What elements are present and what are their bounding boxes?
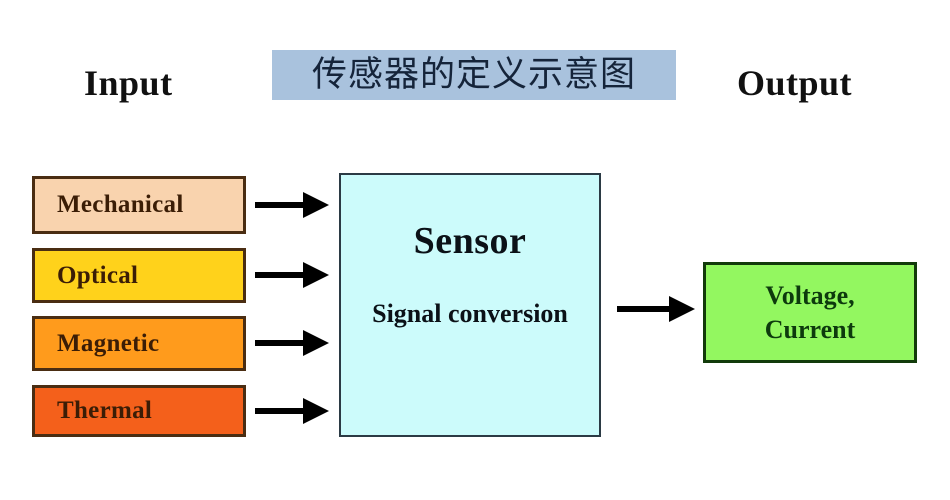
arrow-shaft bbox=[255, 408, 305, 414]
input-box-optical: Optical bbox=[32, 248, 246, 303]
input-box-mechanical: Mechanical bbox=[32, 176, 246, 234]
input-box-magnetic: Magnetic bbox=[32, 316, 246, 371]
output-box-label: Voltage, Current bbox=[765, 279, 856, 347]
input-box-magnetic-label: Magnetic bbox=[57, 330, 159, 358]
arrow-right-icon-mechanical bbox=[255, 192, 329, 218]
arrow-head bbox=[669, 296, 695, 322]
arrow-shaft bbox=[617, 306, 671, 312]
sensor-block-title: Sensor bbox=[414, 219, 527, 263]
arrow-right-icon-output bbox=[617, 296, 697, 322]
sensor-block: Sensor Signal conversion bbox=[339, 173, 601, 437]
arrow-right-icon-thermal bbox=[255, 398, 329, 424]
arrow-shaft bbox=[255, 340, 305, 346]
input-box-thermal: Thermal bbox=[32, 385, 246, 437]
arrow-head bbox=[303, 330, 329, 356]
sensor-block-subtitle: Signal conversion bbox=[372, 295, 568, 333]
arrow-shaft bbox=[255, 272, 305, 278]
input-box-thermal-label: Thermal bbox=[57, 397, 152, 425]
diagram-title-highlight: 传感器的定义示意图 bbox=[272, 50, 676, 100]
output-box-voltage-current: Voltage, Current bbox=[703, 262, 917, 363]
arrow-right-icon-magnetic bbox=[255, 330, 329, 356]
input-box-mechanical-label: Mechanical bbox=[57, 191, 184, 219]
arrow-head bbox=[303, 398, 329, 424]
arrow-right-icon-optical bbox=[255, 262, 329, 288]
input-column-label: Input bbox=[84, 62, 173, 104]
diagram-title-text: 传感器的定义示意图 bbox=[312, 58, 636, 93]
arrow-head bbox=[303, 192, 329, 218]
output-column-label: Output bbox=[737, 62, 852, 104]
arrow-head bbox=[303, 262, 329, 288]
arrow-shaft bbox=[255, 202, 305, 208]
input-box-optical-label: Optical bbox=[57, 262, 138, 290]
diagram-canvas: Input 传感器的定义示意图 Output Mechanical Optica… bbox=[0, 0, 950, 500]
